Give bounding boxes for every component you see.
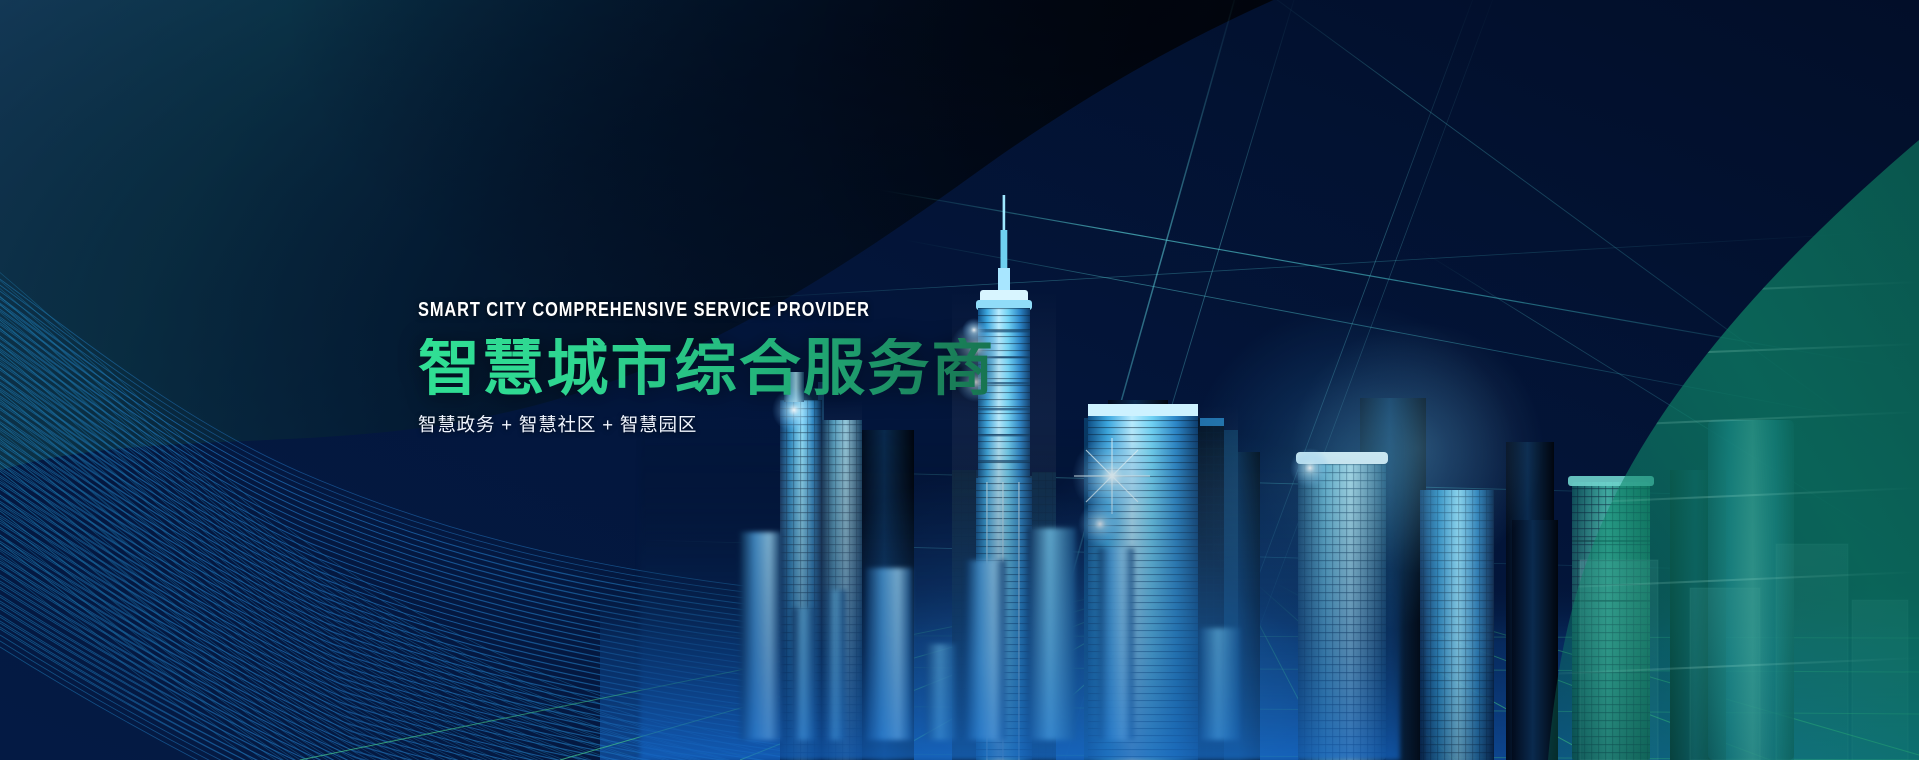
kicker-text: SMART CITY COMPREHENSIVE SERVICE PROVIDE… [418,300,994,321]
page-title: 智慧城市综合服务商 [418,338,1138,400]
subtitle-text: 智慧政务 + 智慧社区 + 智慧园区 [418,416,1138,435]
headline-copy-block: SMART CITY COMPREHENSIVE SERVICE PROVIDE… [418,300,1138,434]
smart-city-banner: SMART CITY COMPREHENSIVE SERVICE PROVIDE… [0,0,1919,760]
